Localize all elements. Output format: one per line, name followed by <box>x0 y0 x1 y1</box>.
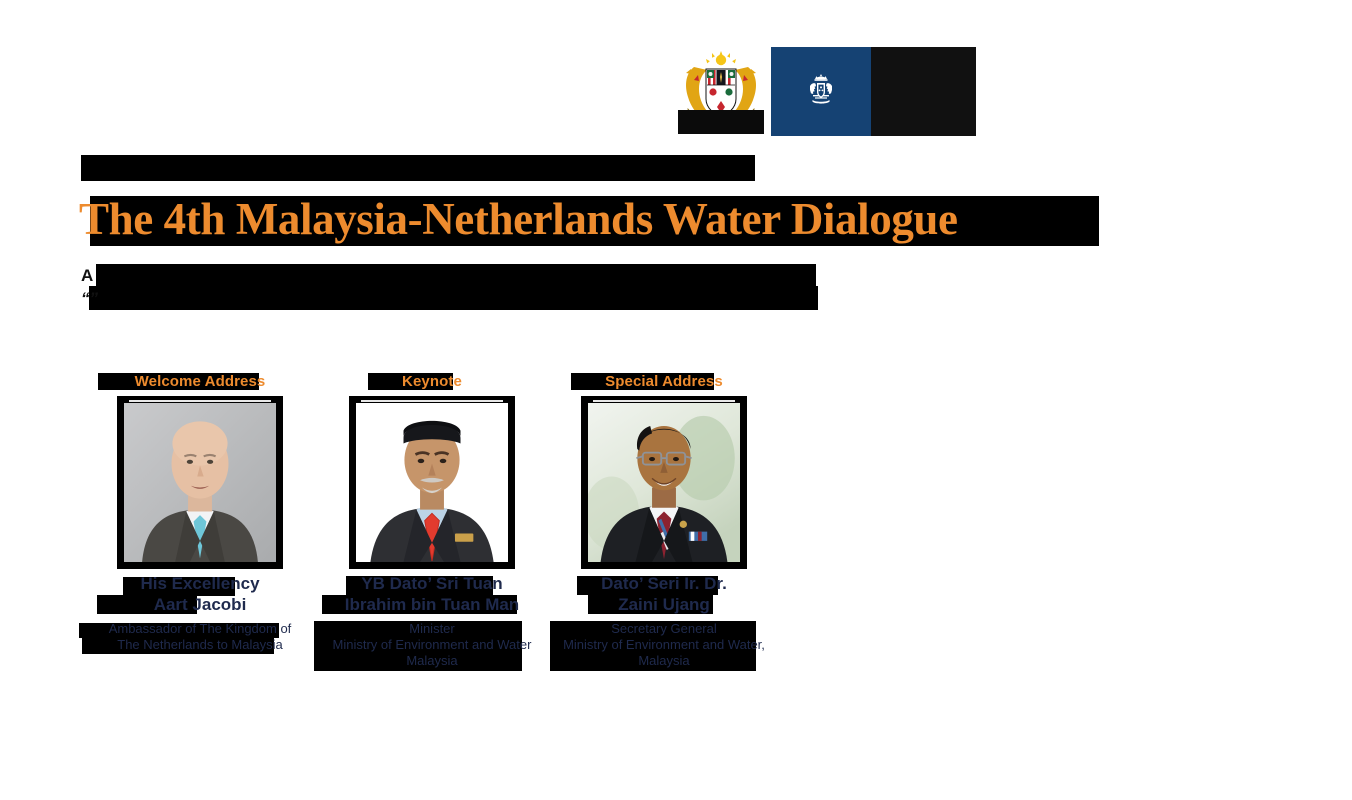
rijksoverheid-crest-icon <box>806 72 836 112</box>
speaker-org-line-3: Malaysia <box>311 653 553 669</box>
speaker-role-label: Welcome Address <box>135 373 266 390</box>
speaker-card: Special Address <box>543 368 785 673</box>
speaker-role-label: Keynote <box>402 373 462 390</box>
speaker-org-line-2: Ministry of Environment and Water <box>311 637 553 653</box>
speaker-role-block: Welcome Address <box>79 368 321 394</box>
portrait-illustration <box>588 403 740 562</box>
speaker-org-line-1: Minister <box>311 621 553 637</box>
logo-strip: BERSEKUTU BERTAMBAH MUTU <box>671 47 976 136</box>
speaker-card: Welcome Address <box>79 368 321 673</box>
netherlands-government-logo <box>771 47 871 136</box>
subtitle-line-1: A <box>81 264 93 288</box>
speaker-org-block: Minister Ministry of Environment and Wat… <box>311 621 553 673</box>
speaker-photo-tuan-ibrahim <box>356 403 508 562</box>
speaker-card-list: Welcome Address <box>79 368 779 678</box>
subtitle-block: A “” <box>81 264 841 314</box>
speaker-photo-frame <box>117 396 283 569</box>
speaker-name-line-1: His Excellency <box>79 573 321 594</box>
portrait-illustration <box>124 403 276 562</box>
speaker-name-line-2: Zaini Ujang <box>543 594 785 615</box>
speaker-role-block: Keynote <box>311 368 553 394</box>
portrait-illustration <box>356 403 508 562</box>
speaker-role-label: Special Address <box>605 373 723 390</box>
speaker-org-line-1: Secretary General <box>543 621 785 637</box>
malaysia-coat-of-arms-logo: BERSEKUTU BERTAMBAH MUTU <box>671 47 771 136</box>
poster-canvas: BERSEKUTU BERTAMBAH MUTU <box>0 0 1352 800</box>
malaysia-coat-of-arms-icon: BERSEKUTU BERTAMBAH MUTU <box>674 49 768 135</box>
subtitle-line-2: “” <box>81 287 98 311</box>
speaker-org-block: Secretary General Ministry of Environmen… <box>543 621 785 673</box>
redacted-logo <box>871 47 976 136</box>
speaker-org-line-2: The Netherlands to Malaysia <box>79 637 321 653</box>
speaker-name-line-1: YB Dato’ Sri Tuan <box>311 573 553 594</box>
subtitle-redaction-bar-1 <box>96 264 816 288</box>
speaker-role-block: Special Address <box>543 368 785 394</box>
svg-text:BERSEKUTU BERTAMBAH MUTU: BERSEKUTU BERTAMBAH MUTU <box>688 118 755 123</box>
subtitle-redaction-bar-2 <box>89 286 818 310</box>
speaker-org-block: Ambassador of The Kingdom of The Netherl… <box>79 621 321 673</box>
speaker-photo-aart-jacobi <box>124 403 276 562</box>
speaker-card: Keynote <box>311 368 553 673</box>
page-title: The 4th Malaysia-Netherlands Water Dialo… <box>79 193 958 245</box>
speaker-org-line-3: Malaysia <box>543 653 785 669</box>
speaker-name-line-1: Dato’ Seri Ir. Dr. <box>543 573 785 594</box>
speaker-name-block: His Excellency Aart Jacobi <box>79 573 321 615</box>
speaker-org-line-2: Ministry of Environment and Water, <box>543 637 785 653</box>
eyebrow-redaction-bar <box>81 155 755 181</box>
speaker-photo-frame <box>581 396 747 569</box>
speaker-photo-frame <box>349 396 515 569</box>
page-title-block: The 4th Malaysia-Netherlands Water Dialo… <box>79 195 1039 247</box>
speaker-org-line-1: Ambassador of The Kingdom of <box>79 621 321 637</box>
speaker-name-block: YB Dato’ Sri Tuan Ibrahim bin Tuan Man <box>311 573 553 615</box>
speaker-name-block: Dato’ Seri Ir. Dr. Zaini Ujang <box>543 573 785 615</box>
speaker-photo-zaini-ujang <box>588 403 740 562</box>
speaker-name-line-2: Ibrahim bin Tuan Man <box>311 594 553 615</box>
speaker-name-line-2: Aart Jacobi <box>79 594 321 615</box>
